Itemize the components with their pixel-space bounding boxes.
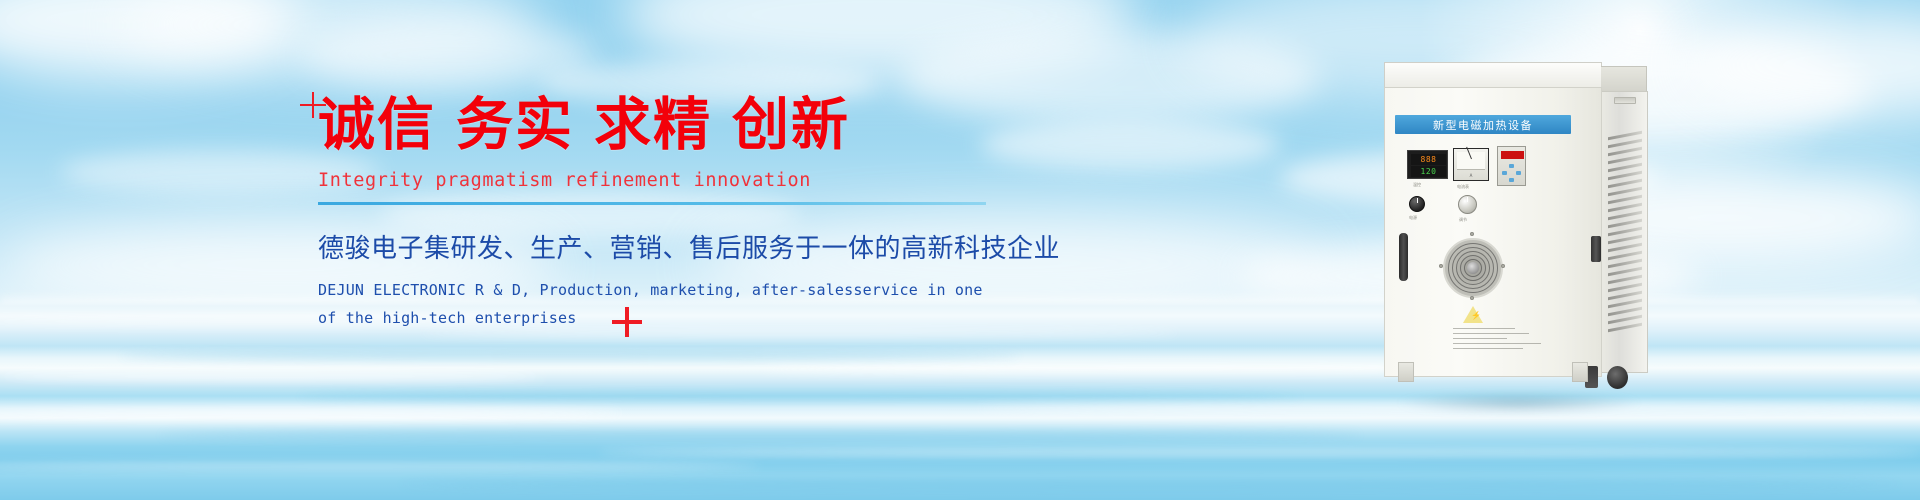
headline-word-1: 诚信 bbox=[318, 92, 436, 158]
machine-front-panel: 新型电磁加热设备 888 120 温控 A 电流表 bbox=[1384, 87, 1602, 377]
machine-side-vents bbox=[1608, 134, 1642, 330]
machine-fan-screw bbox=[1470, 296, 1474, 300]
headline: 诚信务实求精创新 bbox=[318, 96, 1038, 156]
machine-panel-label-2: 电流表 bbox=[1457, 184, 1469, 190]
machine-display-top: 888 bbox=[1411, 154, 1446, 165]
machine-fan-screw bbox=[1439, 264, 1443, 268]
machine-display-bottom: 120 bbox=[1411, 166, 1446, 177]
machine-vent-slot bbox=[1614, 97, 1636, 104]
description-chinese: 德骏电子集研发、生产、营销、售后服务于一体的高新科技企业 bbox=[318, 228, 1038, 265]
water-streak bbox=[120, 352, 1020, 360]
headline-word-4: 创新 bbox=[732, 92, 850, 158]
machine-side-latch[interactable] bbox=[1591, 236, 1601, 262]
headline-subtitle-english: Integrity pragmatism refinement innovati… bbox=[318, 170, 1038, 191]
machine-adjust-knob[interactable] bbox=[1458, 195, 1477, 214]
machine-meter-dial bbox=[1457, 152, 1485, 170]
promo-banner: 诚信务实求精创新 Integrity pragmatism refinement… bbox=[0, 0, 1920, 500]
water-streak bbox=[300, 392, 1300, 401]
machine-foot-right bbox=[1572, 362, 1588, 382]
machine-top-right-panel bbox=[1601, 66, 1647, 92]
machine-shadow bbox=[1394, 392, 1644, 414]
machine-fan-screw bbox=[1501, 264, 1505, 268]
machine-foot-left bbox=[1398, 362, 1414, 382]
water-streak bbox=[0, 372, 540, 381]
machine-instruction-text bbox=[1453, 328, 1545, 353]
banner-copy: 诚信务实求精创新 Integrity pragmatism refinement… bbox=[318, 96, 1038, 332]
machine-keypad-button-down[interactable] bbox=[1509, 178, 1514, 182]
machine-round-connector bbox=[1607, 366, 1628, 389]
description-english: DEJUN ELECTRONIC R & D, Production, mark… bbox=[318, 277, 1038, 333]
machine-keypad-button-left[interactable] bbox=[1502, 171, 1507, 175]
machine-fan-hub bbox=[1467, 262, 1479, 274]
water-streak bbox=[600, 448, 1920, 457]
machine-warning-label: ⚡ bbox=[1463, 306, 1483, 323]
machine-meter-needle bbox=[1466, 147, 1472, 159]
product-image-heating-machine: 新型电磁加热设备 888 120 温控 A 电流表 bbox=[1376, 62, 1676, 422]
machine-product-label-text: 新型电磁加热设备 bbox=[1433, 117, 1533, 133]
machine-keypad-button-up[interactable] bbox=[1509, 164, 1514, 168]
machine-knob-label-2: 调节 bbox=[1459, 217, 1467, 223]
machine-cooling-fan bbox=[1443, 238, 1503, 298]
machine-panel-label-1: 温控 bbox=[1413, 182, 1421, 188]
machine-top-panel bbox=[1384, 62, 1602, 88]
machine-keypad-display bbox=[1501, 151, 1524, 159]
machine-fan-screw bbox=[1470, 232, 1474, 236]
headline-word-3: 求精 bbox=[594, 92, 712, 158]
machine-analog-meter: A bbox=[1453, 148, 1489, 181]
machine-power-knob[interactable] bbox=[1409, 196, 1425, 212]
machine-product-label: 新型电磁加热设备 bbox=[1395, 115, 1571, 134]
machine-knob-label-1: 电源 bbox=[1409, 215, 1417, 221]
machine-meter-label: A bbox=[1454, 173, 1488, 178]
machine-keypad-panel bbox=[1497, 146, 1526, 186]
machine-digital-controller: 888 120 bbox=[1407, 150, 1448, 179]
machine-door-handle[interactable] bbox=[1399, 233, 1408, 281]
divider-line bbox=[318, 202, 986, 205]
description-english-line-2: of the high-tech enterprises bbox=[318, 305, 1038, 333]
water-streak bbox=[400, 478, 1900, 490]
machine-keypad-button-right[interactable] bbox=[1516, 171, 1521, 175]
description-english-line-1: DEJUN ELECTRONIC R & D, Production, mark… bbox=[318, 277, 1038, 305]
headline-word-2: 务实 bbox=[456, 92, 574, 158]
water-streak bbox=[160, 430, 1360, 441]
